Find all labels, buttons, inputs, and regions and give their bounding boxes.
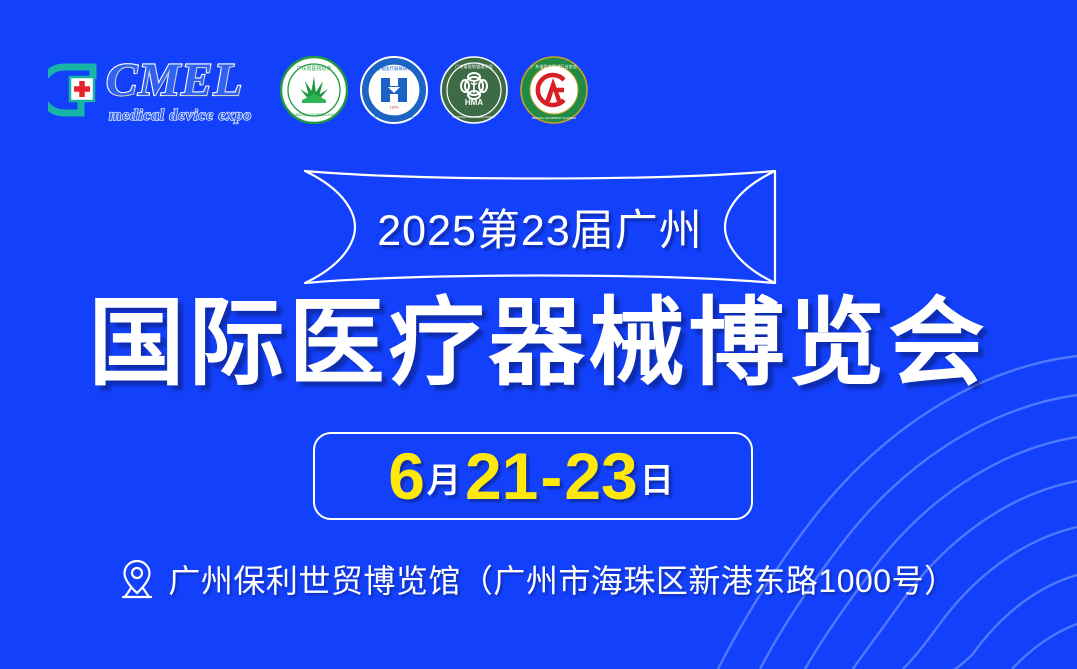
date-month-number: 6 <box>388 443 425 509</box>
cmel-g-cross-logo <box>48 59 100 121</box>
svg-text:INST. OF MEDICAL INSTRUMENTS: INST. OF MEDICAL INSTRUMENTS <box>369 115 418 119</box>
medical-equipment-chamber-logo: 广东省医疗器械行业协会 MEDICAL EQUIPMENT CHAMBER <box>520 56 588 124</box>
location-pin-icon <box>120 558 154 600</box>
svg-text:广东省医疗器械研究所: 广东省医疗器械研究所 <box>372 65 417 72</box>
page-title: 国际医疗器械博览会 <box>0 292 1077 396</box>
date-badge: 6 月 21 - 23 日 <box>313 432 753 520</box>
ribbon-label: 2025第23届广州 <box>303 167 777 287</box>
cmel-name: CMEL <box>106 57 243 104</box>
poster-root: CMEL medical device expo 广东省医院协会 <box>0 0 1077 669</box>
date-dash: - <box>540 443 562 509</box>
svg-text:广东省医院管理学会: 广东省医院管理学会 <box>455 63 494 70</box>
ribbon-banner: 2025第23届广州 <box>303 167 777 287</box>
svg-text:广东省医院协会: 广东省医院协会 <box>296 65 331 72</box>
svg-text:广东省医疗器械行业协会: 广东省医疗器械行业协会 <box>531 63 578 70</box>
svg-text:HOSPITAL MANAGERS ASSOC.: HOSPITAL MANAGERS ASSOC. <box>452 115 495 119</box>
hospital-managers-association-logo: HMA 广东省医院管理学会 HOSPITAL MANAGERS ASSOC. <box>440 56 508 124</box>
svg-text:GUANGDONG HOSPITAL ASSOC.: GUANGDONG HOSPITAL ASSOC. <box>289 113 339 117</box>
svg-text:MEDICAL EQUIPMENT CHAMBER: MEDICAL EQUIPMENT CHAMBER <box>532 116 576 120</box>
svg-text:1979: 1979 <box>389 105 399 110</box>
date-day-start: 21 <box>465 443 538 509</box>
cmel-tagline: medical device expo <box>109 108 252 124</box>
date-month-char: 月 <box>427 464 461 498</box>
date-day-end: 23 <box>564 443 637 509</box>
svg-text:HMA: HMA <box>465 98 483 107</box>
association-logo-list: 广东省医院协会 GUANGDONG HOSPITAL ASSOC. 1979 广… <box>280 56 588 124</box>
guangdong-hospital-association-logo: 广东省医院协会 GUANGDONG HOSPITAL ASSOC. <box>280 56 348 124</box>
logo-strip: CMEL medical device expo 广东省医院协会 <box>48 44 588 136</box>
venue-line: 广州保利世贸博览馆（广州市海珠区新港东路1000号） <box>0 556 1077 602</box>
cmel-brand-logo: CMEL medical device expo <box>48 50 252 130</box>
date-day-char: 日 <box>640 464 674 498</box>
venue-text: 广州保利世贸博览馆（广州市海珠区新港东路1000号） <box>168 556 956 602</box>
cmel-wordmark: CMEL medical device expo <box>106 57 252 124</box>
guangdong-medical-device-institute-logo: 1979 广东省医疗器械研究所 INST. OF MEDICAL INSTRUM… <box>360 56 428 124</box>
